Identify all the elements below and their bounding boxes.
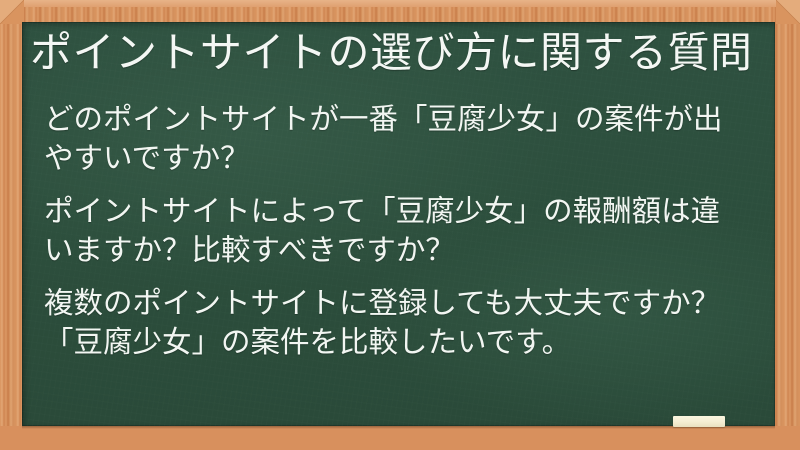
frame-corner-top-left — [0, 0, 24, 24]
question-item-3: 複数のポイントサイトに登録しても大丈夫ですか？「豆腐少女」の案件を比較したいです… — [44, 284, 744, 362]
slide-title: ポイントサイトの選び方に関する質問 — [30, 28, 760, 78]
chalkboard-slide: ポイントサイトの選び方に関する質問 どのポイントサイトが一番「豆腐少女」の案件が… — [0, 0, 800, 450]
question-item-2: ポイントサイトによって「豆腐少女」の報酬額は違いますか？比較すべきですか？ — [44, 192, 744, 270]
frame-top-highlight — [0, 0, 800, 7]
chalk-ledge — [0, 426, 800, 450]
board-bottom-shadow — [22, 426, 775, 429]
question-list: どのポイントサイトが一番「豆腐少女」の案件が出やすいですか？ ポイントサイトによ… — [44, 100, 744, 376]
question-item-1: どのポイントサイトが一番「豆腐少女」の案件が出やすいですか？ — [44, 100, 744, 178]
chalk-stick-icon — [673, 416, 725, 427]
frame-corner-top-right — [776, 0, 800, 24]
board-content: ポイントサイトの選び方に関する質問 どのポイントサイトが一番「豆腐少女」の案件が… — [22, 22, 775, 426]
